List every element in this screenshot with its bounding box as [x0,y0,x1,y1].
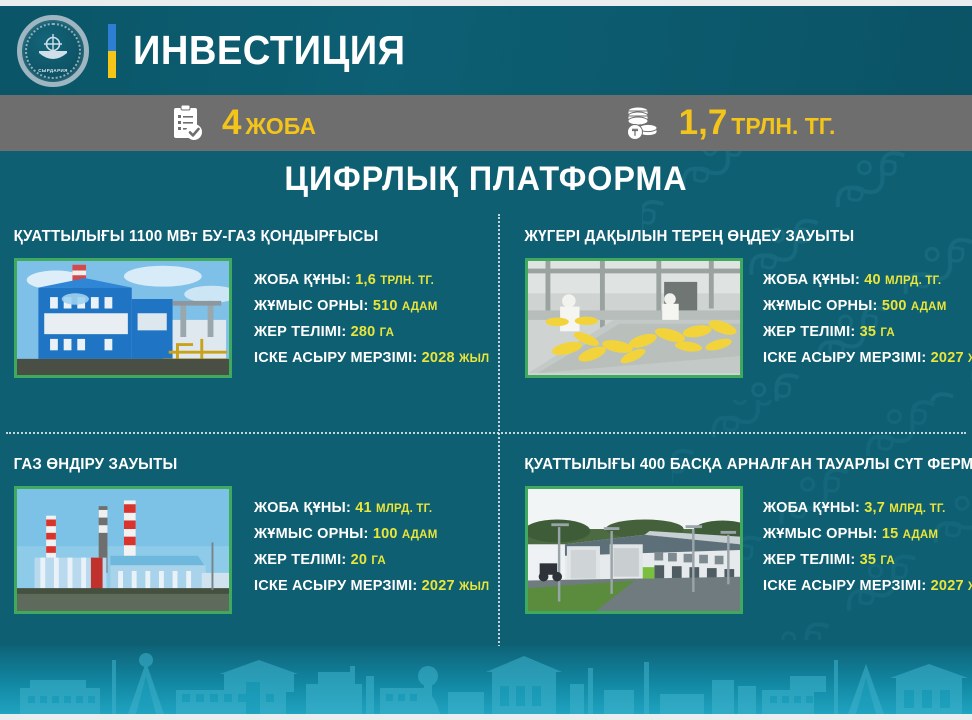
fact-term-unit: ЖЫЛ [968,353,972,365]
project-card[interactable]: ГАЗ ӨНДІРУ ЗАУЫТЫ [0,438,486,660]
fact-land-value: 35 [860,324,877,340]
project-body: ЖОБА ҚҰНЫ: 1,6 ТРЛН. ТГ. ЖҰМЫС ОРНЫ: 510… [0,246,486,378]
fact-land-label: ЖЕР ТЕЛІМІ: [254,552,346,568]
logo-wrap: СЫРДАРИЯ [14,12,92,90]
kpi-band: 4ЖОБА ₸ [0,95,972,151]
project-facts: ЖОБА ҚҰНЫ: 41 МЛРД. ТГ. ЖҰМЫС ОРНЫ: 100 … [254,486,489,600]
kpi-projects-unit: ЖОБА [245,113,316,139]
fact-jobs-label: ЖҰМЫС ОРНЫ: [763,526,878,542]
fact-land-value: 20 [351,552,368,568]
fact-land-value: 35 [860,552,877,568]
project-card[interactable]: ҚУАТТЫЛЫҒЫ 400 БАСҚА АРНАЛҒАН ТАУАРЛЫ СҮ… [505,438,972,660]
project-title: ЖҮГЕРІ ДАҚЫЛЫН ТЕРЕҢ ӨҢДЕУ ЗАУЫТЫ [505,210,972,246]
kpi-investment: ₸ 1,7ТРЛН. ТГ. [486,95,972,151]
fact-land: ЖЕР ТЕЛІМІ: 280 ГА [254,320,489,346]
fact-term-value: 2027 [422,578,455,594]
fact-jobs-value: 15 [882,526,899,542]
fact-land-unit: ГА [380,327,395,339]
section-title: ЦИФРЛЫҚ ПЛАТФОРМА [24,160,947,199]
project-body: ЖОБА ҚҰНЫ: 40 МЛРД. ТГ. ЖҰМЫС ОРНЫ: 500 … [505,246,972,378]
projects-grid: ҚУАТТЫЛЫҒЫ 1100 МВт БУ-ГАЗ ҚОНДЫРҒЫСЫ [0,210,972,665]
project-title: ҚУАТТЫЛЫҒЫ 1100 МВт БУ-ГАЗ ҚОНДЫРҒЫСЫ [0,210,471,246]
fact-jobs-value: 100 [373,526,398,542]
page-title: ИНВЕСТИЦИЯ [133,27,406,74]
fact-jobs-unit: АДАМ [911,301,947,313]
bottom-border-strip [0,714,972,720]
fact-land-unit: ГА [880,327,895,339]
city-skyline-silhouette [0,646,972,714]
fact-term-value: 2028 [422,350,455,366]
fact-jobs: ЖҰМЫС ОРНЫ: 510 АДАМ [254,294,489,320]
fact-cost-value: 3,7 [864,500,885,516]
fact-jobs: ЖҰМЫС ОРНЫ: 15 АДАМ [763,522,972,548]
slide-root: СЫРДАРИЯ ИНВЕСТИЦИЯ [0,0,972,720]
fact-jobs-label: ЖҰМЫС ОРНЫ: [763,298,878,314]
fact-jobs-label: ЖҰМЫС ОРНЫ: [254,298,369,314]
fact-cost-label: ЖОБА ҚҰНЫ: [763,272,860,288]
emblem-glyph-icon [33,31,73,71]
project-facts: ЖОБА ҚҰНЫ: 3,7 МЛРД. ТГ. ЖҰМЫС ОРНЫ: 15 … [763,486,972,600]
fact-jobs-value: 500 [882,298,907,314]
fact-cost-unit: МЛРД. ТГ. [885,275,941,287]
clipboard-check-icon [170,104,204,142]
region-emblem-icon: СЫРДАРИЯ [17,15,89,87]
dairy-farm-photo [525,486,743,614]
fact-cost-label: ЖОБА ҚҰНЫ: [254,500,351,516]
svg-text:₸: ₸ [631,128,638,138]
fact-term-label: ІСКЕ АСЫРУ МЕРЗІМІ: [763,350,926,366]
fact-land-unit: ГА [371,555,386,567]
fact-cost: ЖОБА ҚҰНЫ: 3,7 МЛРД. ТГ. [763,496,972,522]
project-card[interactable]: ЖҮГЕРІ ДАҚЫЛЫН ТЕРЕҢ ӨҢДЕУ ЗАУЫТЫ [505,210,972,432]
gas-plant-photo [14,486,232,614]
fact-jobs-value: 510 [373,298,398,314]
fact-cost: ЖОБА ҚҰНЫ: 40 МЛРД. ТГ. [763,268,972,294]
emblem-label: СЫРДАРИЯ [22,68,84,73]
project-title: ҚУАТТЫЛЫҒЫ 400 БАСҚА АРНАЛҒАН ТАУАРЛЫ СҮ… [505,438,972,474]
power-plant-photo [14,258,232,378]
fact-land-label: ЖЕР ТЕЛІМІ: [763,552,855,568]
fact-land: ЖЕР ТЕЛІМІ: 35 ГА [763,548,972,574]
corn-factory-photo [525,258,743,378]
fact-cost-unit: ТРЛН. ТГ. [380,275,434,287]
project-body: ЖОБА ҚҰНЫ: 3,7 МЛРД. ТГ. ЖҰМЫС ОРНЫ: 15 … [505,474,972,614]
kpi-investment-value: 1,7ТРЛН. ТГ. [679,103,836,143]
fact-jobs-unit: АДАМ [402,529,438,541]
horizontal-divider [6,432,966,434]
kpi-projects-value: 4ЖОБА [222,103,316,143]
fact-land-unit: ГА [880,555,895,567]
fact-jobs: ЖҰМЫС ОРНЫ: 100 АДАМ [254,522,489,548]
project-facts: ЖОБА ҚҰНЫ: 40 МЛРД. ТГ. ЖҰМЫС ОРНЫ: 500 … [763,258,972,372]
vertical-divider [498,214,500,662]
fact-term-unit: ЖЫЛ [459,353,489,365]
kpi-investment-unit: ТРЛН. ТГ. [731,113,835,139]
project-title: ГАЗ ӨНДІРУ ЗАУЫТЫ [0,438,471,474]
fact-term-value: 2027 [931,350,964,366]
fact-term-label: ІСКЕ АСЫРУ МЕРЗІМІ: [254,350,417,366]
slide-header: СЫРДАРИЯ ИНВЕСТИЦИЯ [0,6,972,95]
fact-term-label: ІСКЕ АСЫРУ МЕРЗІМІ: [254,578,417,594]
fact-land: ЖЕР ТЕЛІМІ: 35 ГА [763,320,972,346]
fact-cost-label: ЖОБА ҚҰНЫ: [254,272,351,288]
fact-land-label: ЖЕР ТЕЛІМІ: [254,324,346,340]
fact-term-value: 2027 [931,578,964,594]
fact-cost: ЖОБА ҚҰНЫ: 41 МЛРД. ТГ. [254,496,489,522]
fact-term: ІСКЕ АСЫРУ МЕРЗІМІ: 2027 ЖЫЛ [254,574,489,600]
fact-term: ІСКЕ АСЫРУ МЕРЗІМІ: 2027 ЖЫЛ [763,346,972,372]
fact-jobs-label: ЖҰМЫС ОРНЫ: [254,526,369,542]
fact-term: ІСКЕ АСЫРУ МЕРЗІМІ: 2028 ЖЫЛ [254,346,489,372]
fact-jobs: ЖҰМЫС ОРНЫ: 500 АДАМ [763,294,972,320]
fact-cost-unit: МЛРД. ТГ. [376,503,432,515]
fact-cost-value: 40 [864,272,881,288]
fact-term: ІСКЕ АСЫРУ МЕРЗІМІ: 2027 ЖЫЛ [763,574,972,600]
fact-term-label: ІСКЕ АСЫРУ МЕРЗІМІ: [763,578,926,594]
project-card[interactable]: ҚУАТТЫЛЫҒЫ 1100 МВт БУ-ГАЗ ҚОНДЫРҒЫСЫ [0,210,486,432]
fact-jobs-unit: АДАМ [402,301,438,313]
fact-land-label: ЖЕР ТЕЛІМІ: [763,324,855,340]
fact-land: ЖЕР ТЕЛІМІ: 20 ГА [254,548,489,574]
fact-jobs-unit: АДАМ [903,529,939,541]
fact-cost-value: 41 [355,500,372,516]
project-facts: ЖОБА ҚҰНЫ: 1,6 ТРЛН. ТГ. ЖҰМЫС ОРНЫ: 510… [254,258,489,372]
fact-land-value: 280 [351,324,376,340]
project-body: ЖОБА ҚҰНЫ: 41 МЛРД. ТГ. ЖҰМЫС ОРНЫ: 100 … [0,474,486,614]
fact-term-unit: ЖЫЛ [968,581,972,593]
fact-cost-label: ЖОБА ҚҰНЫ: [763,500,860,516]
kpi-projects: 4ЖОБА [0,95,486,151]
flag-accent-bar [108,24,116,78]
fact-cost-unit: МЛРД. ТГ. [889,503,945,515]
fact-cost: ЖОБА ҚҰНЫ: 1,6 ТРЛН. ТГ. [254,268,489,294]
fact-cost-value: 1,6 [355,272,376,288]
coins-icon: ₸ [623,105,661,141]
fact-term-unit: ЖЫЛ [459,581,489,593]
